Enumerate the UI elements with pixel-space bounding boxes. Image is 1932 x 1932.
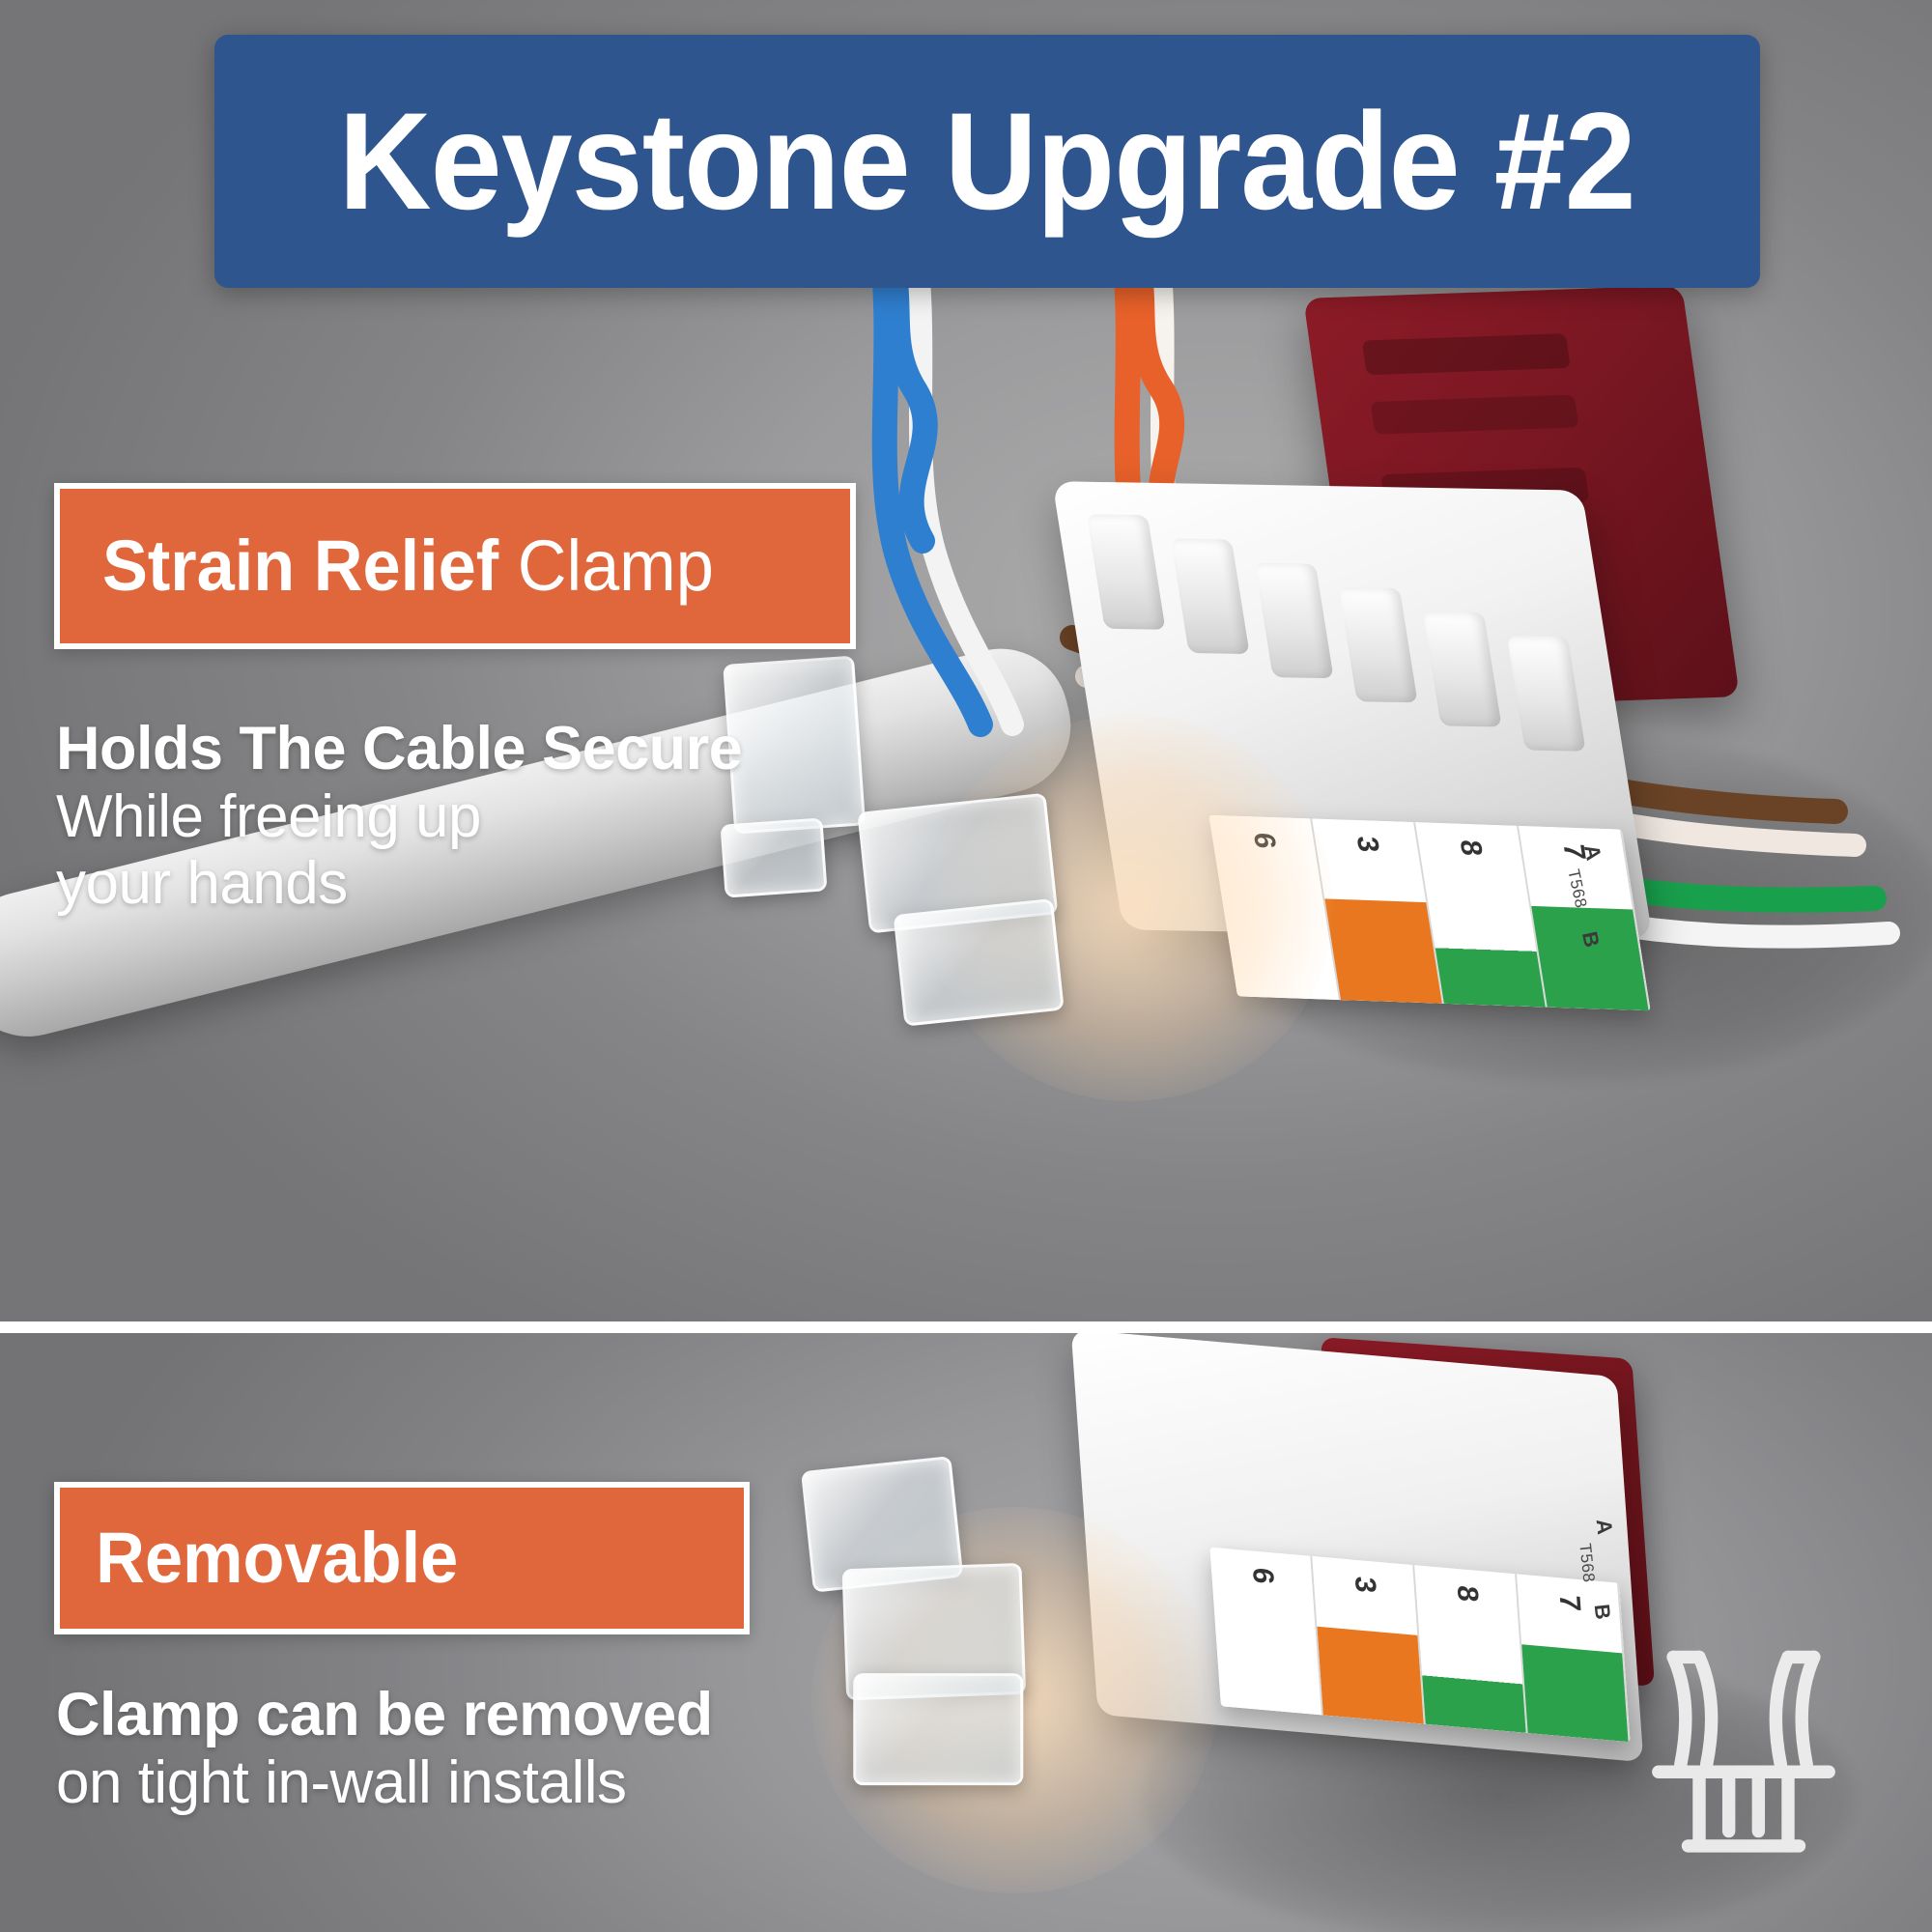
pin-swatch: [1215, 1617, 1321, 1715]
pin-number: 8: [1449, 1584, 1483, 1604]
caption-subline-2: your hands: [56, 850, 742, 917]
caption-strain-relief: Holds The Cable Secure While freeing up …: [56, 715, 742, 917]
pin-swatch: [1419, 1635, 1525, 1733]
pin-swatch: [1428, 902, 1546, 1008]
clamp-icon: [1633, 1634, 1855, 1876]
pin-swatch: [1531, 905, 1649, 1010]
punchdown-tooth: [1255, 563, 1334, 679]
punchdown-tooth: [1339, 587, 1418, 703]
code-cell: 7: [1517, 1574, 1630, 1742]
pin-number: 3: [1347, 1576, 1380, 1595]
code-cell: 3: [1312, 1556, 1425, 1724]
pin-number: 8: [1452, 839, 1488, 857]
label-box-strain-relief: Strain Relief Clamp: [54, 483, 856, 649]
punchdown-tooth: [1087, 514, 1166, 630]
page-title: Keystone Upgrade #2: [339, 93, 1635, 231]
pin-swatch: [1221, 895, 1339, 1000]
pin-swatch: [1521, 1644, 1628, 1742]
clamp-lower-arm: [894, 898, 1065, 1027]
label-box-text: Strain Relief Clamp: [76, 530, 713, 602]
pin-swatch: [1324, 898, 1442, 1004]
standard-label-b: B: [1589, 1603, 1616, 1622]
caption-removable: Clamp can be removed on tight in-wall in…: [56, 1681, 713, 1816]
pin-number: 6: [1245, 832, 1281, 849]
pin-number: 6: [1244, 1566, 1278, 1585]
pin-number: 7: [1551, 1593, 1585, 1612]
promo-image: 6 3 8 7 A T568 B: [0, 0, 1932, 1932]
caption-subline-1: While freeing up: [56, 783, 742, 850]
title-banner: Keystone Upgrade #2: [214, 35, 1760, 288]
caption-subline-1: on tight in-wall installs: [56, 1749, 713, 1816]
standard-label-t568: T568: [1575, 1543, 1598, 1584]
label-light-text: Clamp: [518, 526, 714, 606]
wiring-code-strip-top: 6 3 8 7: [1208, 815, 1650, 1011]
punchdown-tooth: [1423, 611, 1502, 727]
code-cell: 6: [1209, 1548, 1322, 1716]
clamp-lower-arm: [853, 1673, 1023, 1785]
panel-divider: [0, 1321, 1932, 1333]
clamp-arm-upper: [723, 656, 866, 835]
bottom-panel-background: 6 3 8 7 A T568 B: [0, 1333, 1932, 1932]
label-box-text: Removable: [71, 1522, 459, 1594]
code-cell: 8: [1414, 1565, 1527, 1733]
pin-swatch: [1317, 1626, 1423, 1723]
caption-headline: Clamp can be removed: [56, 1681, 713, 1749]
caption-headline: Holds The Cable Secure: [56, 715, 742, 783]
standard-label-a: A: [1591, 1518, 1618, 1537]
punchdown-tooth: [1507, 636, 1586, 752]
pin-number: 3: [1349, 836, 1384, 853]
removable-clamp: [855, 1512, 1174, 1831]
punchdown-tooth: [1171, 538, 1250, 654]
label-box-removable: Removable: [54, 1482, 750, 1634]
label-bold-text: Strain Relief: [102, 526, 498, 606]
label-bold-text: Removable: [96, 1518, 458, 1598]
